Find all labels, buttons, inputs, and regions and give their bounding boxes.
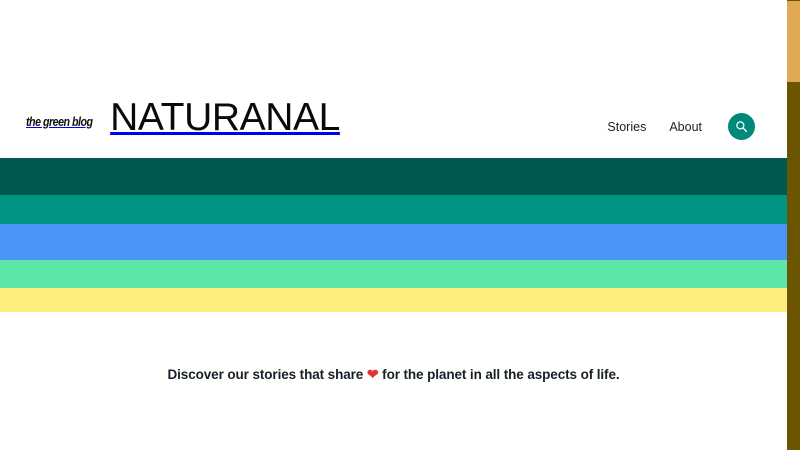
nav-link-about[interactable]: About: [669, 120, 702, 134]
band-dark-teal: [0, 158, 787, 195]
vertical-scrollbar[interactable]: [787, 0, 800, 450]
hero-color-bands: [0, 158, 787, 312]
tagline-text-after: for the planet in all the aspects of lif…: [382, 367, 619, 382]
band-mint: [0, 260, 787, 288]
site-brand-logo[interactable]: the green blog NATURANAL: [26, 98, 340, 137]
search-icon: [735, 120, 748, 133]
primary-nav: Stories About: [607, 113, 755, 140]
nav-link-stories[interactable]: Stories: [607, 120, 646, 134]
brand-kicker-text: the green blog: [26, 114, 93, 129]
band-teal: [0, 195, 787, 224]
heart-icon: ❤: [367, 366, 379, 382]
search-button[interactable]: [728, 113, 755, 140]
band-yellow: [0, 288, 787, 312]
scrollbar-thumb[interactable]: [787, 1, 800, 82]
tagline-text-before: Discover our stories that share: [167, 367, 363, 382]
site-header: the green blog NATURANAL Stories About: [0, 0, 787, 158]
tagline: Discover our stories that share ❤ for th…: [0, 366, 787, 383]
band-blue: [0, 224, 787, 260]
page-viewport: the green blog NATURANAL Stories About D…: [0, 0, 787, 450]
brand-title-text: NATURANAL: [110, 98, 340, 137]
tagline-section: Discover our stories that share ❤ for th…: [0, 312, 787, 383]
